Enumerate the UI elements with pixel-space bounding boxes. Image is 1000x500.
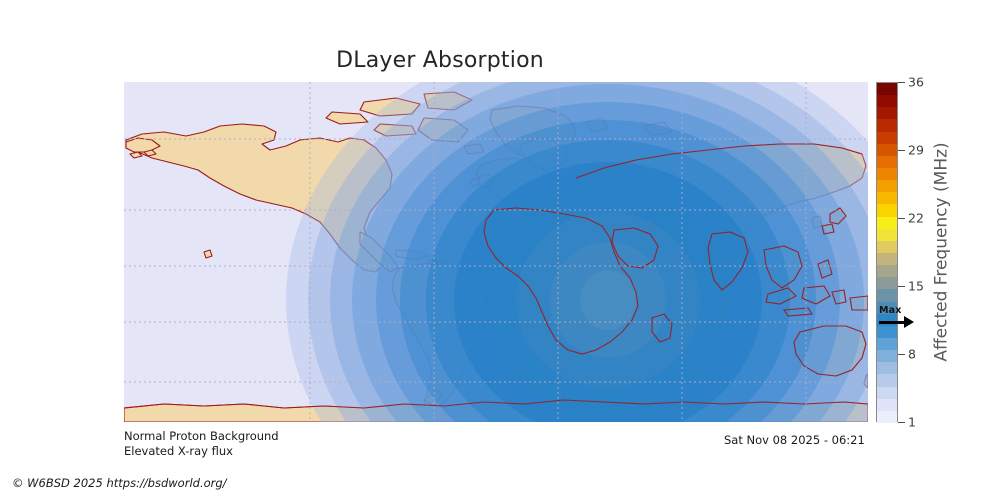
- colorbar-segment: [877, 411, 897, 423]
- colorbar-tick-label: 29: [908, 143, 924, 158]
- colorbar: 1815222936 Max: [876, 82, 898, 422]
- colorbar-tick-label: 8: [908, 347, 916, 362]
- colorbar-segment: [877, 192, 897, 204]
- max-annotation: Max: [878, 306, 922, 332]
- colorbar-segment: [877, 132, 897, 144]
- colorbar-tick-mark: [898, 422, 905, 423]
- colorbar-segment: [877, 387, 897, 399]
- max-arrow-shaft: [879, 321, 906, 324]
- max-arrow-icon: [904, 316, 914, 328]
- colorbar-segment: [877, 362, 897, 374]
- colorbar-segment: [877, 277, 897, 289]
- colorbar-tick-label: 15: [908, 279, 924, 294]
- status-line-proton: Normal Proton Background: [124, 429, 279, 444]
- colorbar-segment: [877, 144, 897, 156]
- land-hawaii: [204, 250, 212, 258]
- status-text: Normal Proton Background Elevated X-ray …: [124, 429, 279, 459]
- colorbar-axis-label: Affected Frequency (MHz): [932, 142, 952, 361]
- colorbar-segment: [877, 95, 897, 107]
- colorbar-segment: [877, 83, 897, 95]
- colorbar-tick-label: 36: [908, 75, 924, 90]
- absorption-band-12: [580, 270, 636, 330]
- status-line-xray: Elevated X-ray flux: [124, 444, 279, 459]
- colorbar-segment: [877, 119, 897, 131]
- absorption-contours: [286, 82, 868, 422]
- colorbar-segment: [877, 180, 897, 192]
- colorbar-segment: [877, 289, 897, 301]
- colorbar-segment: [877, 350, 897, 362]
- colorbar-segment: [877, 107, 897, 119]
- colorbar-tick-mark: [898, 82, 905, 83]
- timestamp: Sat Nov 08 2025 - 06:21: [724, 433, 865, 447]
- colorbar-segment: [877, 265, 897, 277]
- colorbar-segment: [877, 399, 897, 411]
- colorbar-gradient: [876, 82, 898, 422]
- colorbar-segment: [877, 229, 897, 241]
- colorbar-tick-label: 22: [908, 211, 924, 226]
- colorbar-segment: [877, 253, 897, 265]
- colorbar-segment: [877, 204, 897, 216]
- colorbar-tick-mark: [898, 354, 905, 355]
- colorbar-tick-mark: [898, 286, 905, 287]
- map-canvas: [124, 82, 868, 422]
- colorbar-segment: [877, 374, 897, 386]
- page-title: DLayer Absorption: [0, 48, 880, 73]
- dlayer-absorption-figure: DLayer Absorption: [0, 0, 1000, 500]
- colorbar-segment: [877, 338, 897, 350]
- colorbar-tick-mark: [898, 218, 905, 219]
- colorbar-segment: [877, 156, 897, 168]
- colorbar-segment: [877, 217, 897, 229]
- copyright-notice: © W6BSD 2025 https://bsdworld.org/: [12, 476, 227, 490]
- colorbar-segment: [877, 168, 897, 180]
- world-map-plot: [124, 82, 868, 422]
- colorbar-tick-label: 1: [908, 415, 916, 430]
- colorbar-segment: [877, 241, 897, 253]
- max-label: Max: [879, 305, 902, 316]
- colorbar-tick-mark: [898, 150, 905, 151]
- colorbar-axis-label-wrap: Affected Frequency (MHz): [930, 82, 954, 422]
